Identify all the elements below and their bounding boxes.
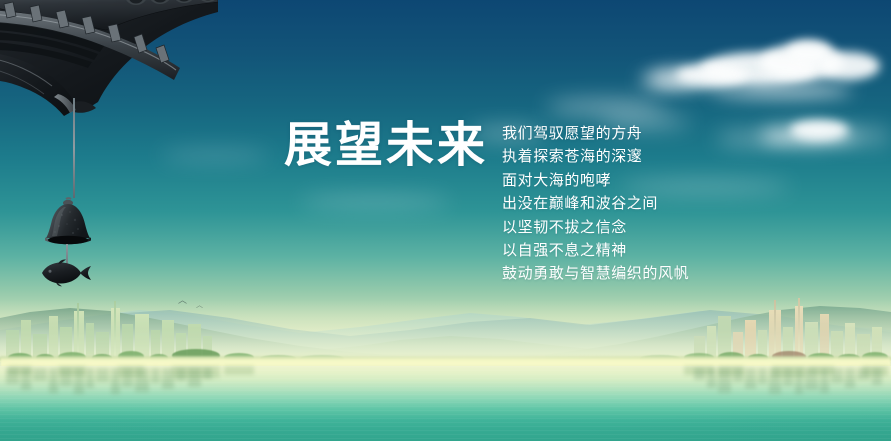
page-title: 展望未来: [284, 122, 488, 170]
poem-line: 以坚韧不拔之信念: [502, 216, 732, 239]
poem-line: 出没在巅峰和波谷之间: [502, 192, 732, 215]
poem-line: 我们驾驭愿望的方舟: [502, 122, 732, 145]
wind-chime-fish-icon: [36, 258, 92, 288]
reflection-shoreline: [0, 367, 891, 379]
banner-image: ︿ ︿ 展望未来 我们驾驭愿望的方舟 执着探索苍海的深邃 面对大海的咆哮 出没在…: [0, 0, 891, 441]
poem-line: 以自强不息之精神: [502, 239, 732, 262]
poem-line: 执着探索苍海的深邃: [502, 145, 732, 168]
chinese-roof-eave: [0, 0, 218, 124]
chime-hanging-string: [73, 98, 75, 198]
wind-chime-bell-icon: [40, 195, 96, 251]
poem-line: 面对大海的咆哮: [502, 169, 732, 192]
poem-block: 我们驾驭愿望的方舟 执着探索苍海的深邃 面对大海的咆哮 出没在巅峰和波谷之间 以…: [502, 122, 732, 286]
poem-line: 鼓动勇敢与智慧编织的风帆: [502, 262, 732, 285]
bird-silhouette-icon: ︿: [178, 296, 187, 305]
bird-silhouette-icon: ︿: [196, 302, 203, 309]
